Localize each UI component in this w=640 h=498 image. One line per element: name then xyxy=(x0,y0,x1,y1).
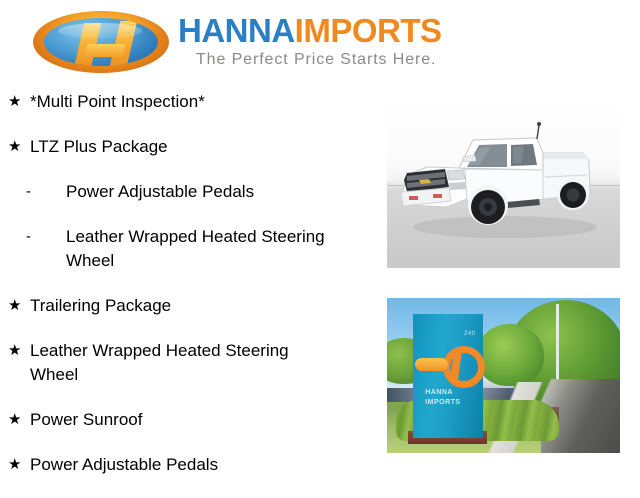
star-bullet-icon: ★ xyxy=(0,294,30,318)
list-item-label: Power Adjustable Pedals xyxy=(66,180,372,204)
monument-sign: 240 HANNA IMPORTS xyxy=(413,314,483,438)
sign-address-number: 240 xyxy=(464,331,476,337)
dash-bullet-icon: - xyxy=(0,225,66,249)
logo-h-crossbar xyxy=(84,44,125,57)
list-item-label: LTZ Plus Package xyxy=(30,135,372,159)
sign-text-block: HANNA IMPORTS xyxy=(425,388,474,408)
list-item: ★ Power Adjustable Pedals xyxy=(0,453,372,477)
star-bullet-icon: ★ xyxy=(0,408,30,432)
list-item-label: Leather Wrapped Heated Steering Wheel xyxy=(66,225,372,273)
star-bullet-icon: ★ xyxy=(0,453,30,477)
list-item: ★ *Multi Point Inspection* xyxy=(0,90,372,114)
list-item: ★ Leather Wrapped Heated Steering Wheel xyxy=(0,339,372,387)
list-item: - Power Adjustable Pedals xyxy=(0,180,372,204)
sign-text-imports: IMPORTS xyxy=(425,398,474,408)
list-item: - Leather Wrapped Heated Steering Wheel xyxy=(0,225,372,273)
dash-bullet-icon: - xyxy=(0,180,66,204)
sign-text-hanna: HANNA xyxy=(425,388,474,398)
pickup-truck-illustration xyxy=(387,95,620,268)
list-item-label: Trailering Package xyxy=(30,294,372,318)
hanna-oval-h-logo-icon xyxy=(33,11,169,73)
list-item-label: Leather Wrapped Heated Steering Wheel xyxy=(30,339,372,387)
list-item: ★ Trailering Package xyxy=(0,294,372,318)
list-item: ★ Power Sunroof xyxy=(0,408,372,432)
brand-wordmark-hanna: HANNA xyxy=(178,12,295,49)
logo-oval-outer-ring xyxy=(33,11,169,73)
sign-logo-bar-icon xyxy=(415,358,447,371)
photo-column: 240 HANNA IMPORTS xyxy=(387,0,640,480)
vehicle-photo[interactable] xyxy=(387,95,620,268)
vehicle-feature-list: ★ *Multi Point Inspection* ★ LTZ Plus Pa… xyxy=(0,90,372,498)
sign-logo-ring-icon xyxy=(443,346,485,388)
logo-oval-inner-disc xyxy=(44,18,158,66)
list-item-label: Power Sunroof xyxy=(30,408,372,432)
list-item-label: Power Adjustable Pedals xyxy=(30,453,372,477)
star-bullet-icon: ★ xyxy=(0,90,30,114)
star-bullet-icon: ★ xyxy=(0,135,30,159)
list-item: ★ LTZ Plus Package xyxy=(0,135,372,159)
list-item-label: *Multi Point Inspection* xyxy=(30,90,372,114)
tree-middle xyxy=(476,324,544,386)
star-bullet-icon: ★ xyxy=(0,339,30,363)
dealership-photo[interactable]: 240 HANNA IMPORTS xyxy=(387,298,620,453)
